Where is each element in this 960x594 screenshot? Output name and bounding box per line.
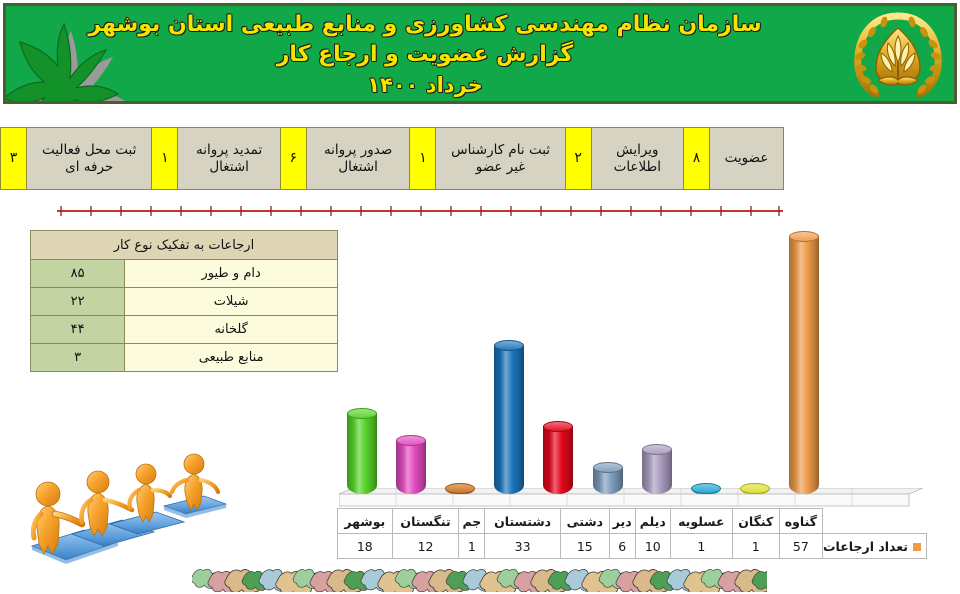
service-label-3: صدور پروانه اشتغال <box>306 128 410 190</box>
referrals-by-city-chart: گناوه کنگان عسلویه دیلم دیر دشتی دشتستان… <box>337 212 927 562</box>
type-value-1: ۲۲ <box>31 288 125 316</box>
chart-bar-6 <box>494 345 524 494</box>
service-value-2: ۱ <box>410 128 436 190</box>
type-table-header: ارجاعات به تفکیک نوع کار <box>31 231 338 260</box>
bar-top-ellipse <box>593 462 623 473</box>
service-label-0: عضویت <box>710 128 784 190</box>
chart-value-3: 10 <box>635 534 670 559</box>
people-holding-hands-puzzle-icon <box>22 442 254 572</box>
services-summary-table: عضویت ۸ ویرایش اطلاعات ۲ ثبت نام کارشناس… <box>0 127 784 190</box>
chart-bar-3 <box>642 449 672 494</box>
bar-body <box>347 413 377 494</box>
table-row: شیلات ۲۲ <box>31 288 338 316</box>
type-value-0: ۸۵ <box>31 260 125 288</box>
bar-body <box>494 345 524 494</box>
chart-bar-1 <box>740 488 770 494</box>
referrals-by-type-table: ارجاعات به تفکیک نوع کار دام و طیور ۸۵ ش… <box>30 230 338 372</box>
chart-bar-4 <box>593 467 623 494</box>
table-row: عضویت ۸ ویرایش اطلاعات ۲ ثبت نام کارشناس… <box>1 128 784 190</box>
chart-category-7: جم <box>459 509 485 534</box>
bar-body <box>396 440 426 494</box>
chart-bar-2 <box>691 488 721 494</box>
chart-bar-8 <box>396 440 426 494</box>
page-subtitle: گزارش عضویت و ارجاع کار <box>6 40 844 70</box>
organization-emblem-icon <box>850 10 946 104</box>
chart-legend: تعداد ارجاعات <box>823 534 927 559</box>
chart-category-6: دشتستان <box>485 509 561 534</box>
page-date: خرداد ۱۴۰۰ <box>6 70 844 100</box>
bar-top-ellipse <box>445 483 475 494</box>
chart-value-2: 1 <box>670 534 732 559</box>
bar-top-ellipse <box>642 444 672 455</box>
chart-category-9: بوشهر <box>338 509 393 534</box>
bar-top-ellipse <box>347 408 377 419</box>
chart-category-4: دیر <box>609 509 635 534</box>
service-value-4: ۱ <box>152 128 178 190</box>
service-value-0: ۸ <box>684 128 710 190</box>
chart-category-3: دیلم <box>635 509 670 534</box>
chart-value-7: 1 <box>459 534 485 559</box>
bar-body <box>543 426 573 494</box>
bar-top-ellipse <box>396 435 426 446</box>
chart-value-0: 57 <box>779 534 822 559</box>
table-row: گلخانه ۴۴ <box>31 316 338 344</box>
type-value-3: ۳ <box>31 344 125 372</box>
slide-page: سازمان نظام مهندسی کشاورزی و منابع طبیعی… <box>0 0 960 594</box>
chart-category-5: دشتی <box>560 509 609 534</box>
bar-body <box>642 449 672 494</box>
service-label-4: تمدید پروانه اشتغال <box>178 128 280 190</box>
chart-data-table: گناوه کنگان عسلویه دیلم دیر دشتی دشتستان… <box>337 508 927 559</box>
service-label-1: ویرایش اطلاعات <box>591 128 683 190</box>
chart-bar-9 <box>347 413 377 494</box>
service-value-5: ۳ <box>1 128 27 190</box>
header-title-block: سازمان نظام مهندسی کشاورزی و منابع طبیعی… <box>6 10 844 100</box>
decorative-leaf-border-icon <box>192 568 767 592</box>
service-value-1: ۲ <box>565 128 591 190</box>
chart-bar-7 <box>445 488 475 494</box>
chart-value-6: 33 <box>485 534 561 559</box>
chart-category-2: عسلویه <box>670 509 732 534</box>
chart-value-9: 18 <box>338 534 393 559</box>
chart-category-8: تنگستان <box>392 509 459 534</box>
bar-top-ellipse <box>740 483 770 494</box>
chart-bar-5 <box>543 426 573 494</box>
chart-value-1: 1 <box>732 534 779 559</box>
service-label-5: ثبت محل فعالیت حرفه ای <box>27 128 152 190</box>
page-header: سازمان نظام مهندسی کشاورزی و منابع طبیعی… <box>3 3 957 104</box>
type-value-2: ۴۴ <box>31 316 125 344</box>
type-name-3: منابع طبیعی <box>125 344 338 372</box>
bar-top-ellipse <box>494 340 524 351</box>
chart-category-1: کنگان <box>732 509 779 534</box>
type-name-1: شیلات <box>125 288 338 316</box>
chart-value-8: 12 <box>392 534 459 559</box>
legend-label: تعداد ارجاعات <box>823 539 908 554</box>
bar-top-ellipse <box>691 483 721 494</box>
type-name-2: گلخانه <box>125 316 338 344</box>
chart-plot-area <box>337 212 927 512</box>
legend-swatch-icon <box>913 543 921 551</box>
type-name-0: دام و طیور <box>125 260 338 288</box>
table-header-row: ارجاعات به تفکیک نوع کار <box>31 231 338 260</box>
table-row: منابع طبیعی ۳ <box>31 344 338 372</box>
chart-bar-0 <box>789 236 819 494</box>
table-row: دام و طیور ۸۵ <box>31 260 338 288</box>
chart-category-row: گناوه کنگان عسلویه دیلم دیر دشتی دشتستان… <box>338 509 927 534</box>
bar-body <box>789 236 819 494</box>
legend-spacer <box>823 509 927 534</box>
page-title: سازمان نظام مهندسی کشاورزی و منابع طبیعی… <box>6 10 844 40</box>
chart-value-5: 15 <box>560 534 609 559</box>
chart-value-4: 6 <box>609 534 635 559</box>
service-label-2: ثبت نام کارشناس غیر عضو <box>436 128 565 190</box>
chart-value-row: تعداد ارجاعات 57 1 1 10 6 15 33 1 12 18 <box>338 534 927 559</box>
chart-category-0: گناوه <box>779 509 822 534</box>
service-value-3: ۶ <box>280 128 306 190</box>
